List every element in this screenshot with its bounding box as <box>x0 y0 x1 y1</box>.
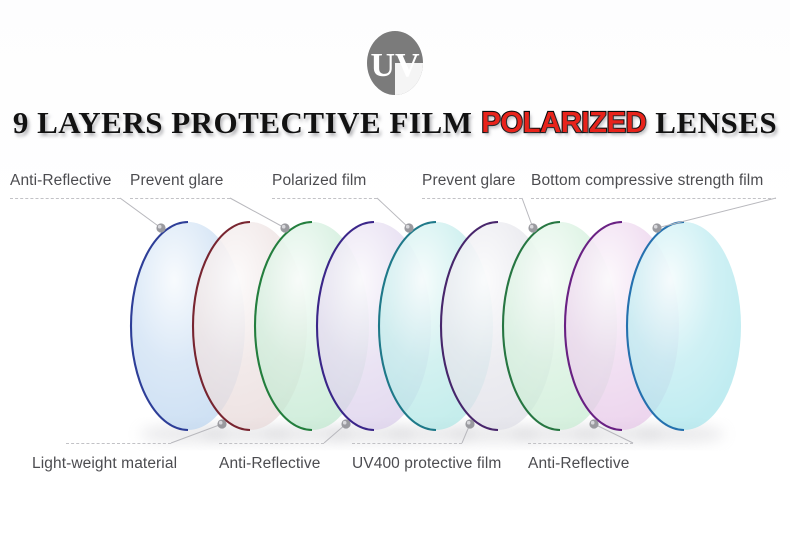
connector-dot <box>404 223 413 232</box>
layer-label-top: Anti-Reflective <box>10 172 111 190</box>
label-dashed-rule <box>219 443 324 444</box>
connector-dot <box>341 419 350 428</box>
connector-dot-highlight <box>591 421 595 425</box>
connector-dot <box>528 223 537 232</box>
connector-dot-highlight <box>467 421 471 425</box>
infographic-canvas: UV 9 LAYERS PROTECTIVE FILM POLARIZED LE… <box>0 0 790 541</box>
layer-label-bottom: UV400 protective film <box>352 455 501 473</box>
connector-dot <box>465 419 474 428</box>
label-dashed-rule <box>130 198 230 199</box>
leader-line <box>120 198 161 228</box>
leader-line <box>657 198 776 228</box>
label-dashed-rule <box>10 198 120 199</box>
label-dashed-rule <box>528 443 633 444</box>
connector-dot-highlight <box>654 225 658 229</box>
connector-dot-highlight <box>530 225 534 229</box>
connector-dot-highlight <box>282 225 286 229</box>
connector-dot-highlight <box>343 421 347 425</box>
layer-label-bottom: Light-weight material <box>32 455 177 473</box>
connector-dot-highlight <box>219 421 223 425</box>
leader-line <box>522 198 533 228</box>
label-dashed-rule <box>352 443 462 444</box>
label-dashed-rule <box>272 198 377 199</box>
layer-label-bottom: Anti-Reflective <box>219 455 320 473</box>
layer-label-bottom: Anti-Reflective <box>528 455 629 473</box>
label-dashed-rule <box>422 198 522 199</box>
label-dashed-rule <box>531 198 776 199</box>
connector-dot <box>652 223 661 232</box>
connector-dot-highlight <box>406 225 410 229</box>
layer-label-top: Polarized film <box>272 172 366 190</box>
connector-dot <box>280 223 289 232</box>
connector-dot <box>156 223 165 232</box>
connector-dot <box>217 419 226 428</box>
lens-body-layer <box>131 222 741 430</box>
layer-label-top: Prevent glare <box>422 172 516 190</box>
connector-dot <box>589 419 598 428</box>
lens-layer-9 <box>627 222 741 430</box>
layer-label-top: Bottom compressive strength film <box>531 172 763 190</box>
layer-label-top: Prevent glare <box>130 172 224 190</box>
connector-dot-highlight <box>158 225 162 229</box>
label-dashed-rule <box>66 443 171 444</box>
